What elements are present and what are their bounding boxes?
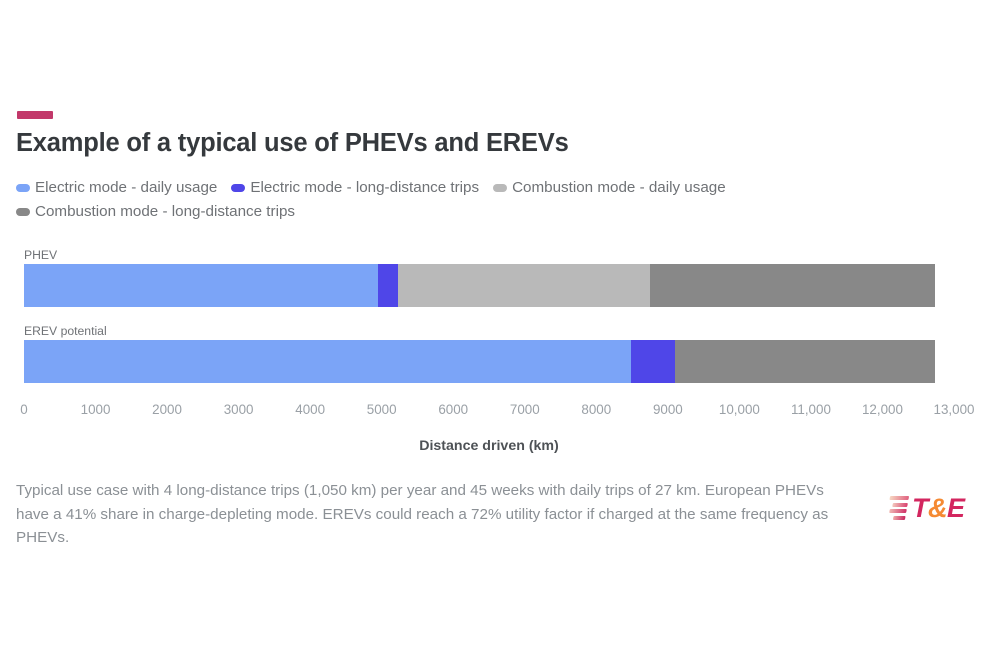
x-tick-label: 10,000 — [719, 402, 760, 417]
te-logo: T&E — [888, 490, 984, 526]
x-axis-title: Distance driven (km) — [0, 438, 978, 454]
logo-letter-e: E — [947, 493, 965, 523]
logo-wordmark: T&E — [912, 495, 965, 522]
x-tick-label: 0 — [20, 402, 27, 417]
bar-group-label: EREV potential — [24, 324, 107, 338]
footnote-line-1: Typical use case with 4 long-distance tr… — [16, 482, 701, 499]
x-tick-label: 12,000 — [862, 402, 903, 417]
x-tick-label: 6000 — [438, 402, 468, 417]
x-tick-label: 9000 — [653, 402, 683, 417]
bar-segment[interactable] — [24, 264, 378, 307]
bar-segment[interactable] — [650, 264, 935, 307]
x-tick-label: 2000 — [152, 402, 182, 417]
x-tick-label: 5000 — [367, 402, 397, 417]
logo-ampersand: & — [928, 493, 947, 523]
x-tick-label: 11,000 — [791, 402, 831, 417]
x-tick-label: 13,000 — [934, 402, 975, 417]
bar-segment[interactable] — [24, 340, 631, 383]
bar-segment[interactable] — [631, 340, 675, 383]
logo-bars-icon — [886, 496, 909, 520]
chart-footnote: Typical use case with 4 long-distance tr… — [16, 479, 846, 550]
bar-segment[interactable] — [398, 264, 650, 307]
plot-area: PHEVEREV potential — [0, 0, 1000, 667]
bar-group-label: PHEV — [24, 248, 57, 262]
x-tick-label: 8000 — [581, 402, 611, 417]
x-tick-label: 4000 — [295, 402, 325, 417]
x-tick-label: 1000 — [81, 402, 111, 417]
stacked-bar[interactable] — [24, 340, 935, 383]
x-axis-ticks: 010002000300040005000600070008000900010,… — [0, 402, 1000, 420]
x-tick-label: 3000 — [224, 402, 254, 417]
bar-segment[interactable] — [675, 340, 935, 383]
x-tick-label: 7000 — [510, 402, 540, 417]
bar-segment[interactable] — [378, 264, 398, 307]
logo-letter-t: T — [912, 493, 928, 523]
stacked-bar[interactable] — [24, 264, 935, 307]
chart-figure: Example of a typical use of PHEVs and ER… — [0, 0, 1000, 667]
